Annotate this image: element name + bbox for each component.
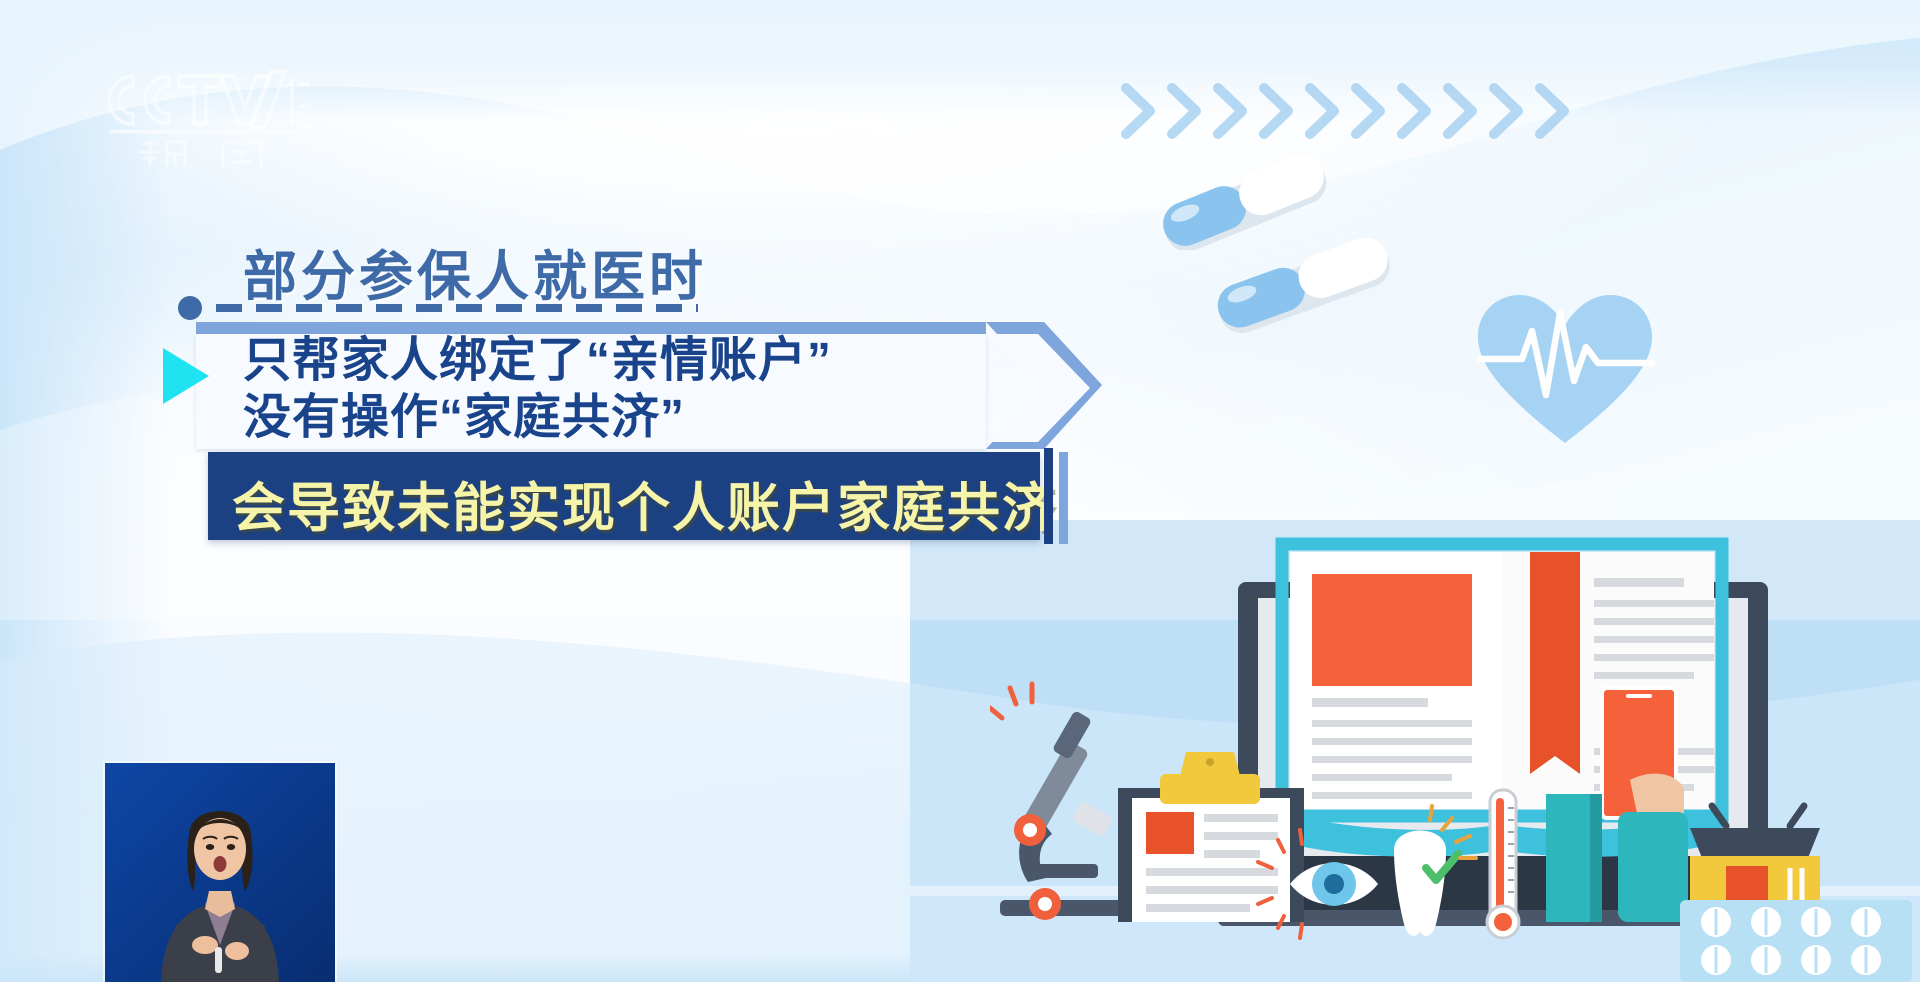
bullet-dot-icon	[178, 296, 202, 320]
pill-blister-pack-icon	[1680, 900, 1912, 982]
medical-illustration	[990, 512, 1920, 982]
broadcast-frame: 部分参保人就医时 只帮家人绑定了“亲情账户” 没有操作“家庭共济” 会导致未能实…	[0, 0, 1920, 982]
white-banner-text: 只帮家人绑定了“亲情账户” 没有操作“家庭共济”	[243, 332, 983, 446]
callout-dashed-divider	[178, 294, 698, 320]
thermometer-icon	[1487, 790, 1519, 938]
white-banner-line-1: 只帮家人绑定了“亲情账户”	[243, 332, 983, 389]
capsule-pill-lower	[1205, 238, 1405, 339]
chevron-arrow-row	[1120, 78, 1620, 148]
news-callout-block: 部分参保人就医时 只帮家人绑定了“亲情账户” 没有操作“家庭共济” 会导致未能实…	[0, 0, 1100, 600]
teal-book-icon	[1546, 794, 1602, 922]
play-triangle-icon	[163, 348, 209, 404]
dashed-line	[216, 304, 698, 312]
dark-banner-text: 会导致未能实现个人账户家庭共济	[232, 466, 1057, 542]
sign-language-interpreter-window	[105, 763, 335, 982]
white-banner-line-2: 没有操作“家庭共济”	[243, 389, 983, 446]
microscope-icon	[990, 684, 1122, 920]
heart-ecg-icon	[1470, 285, 1660, 455]
banner-chevron-arrow-icon	[986, 322, 1106, 449]
